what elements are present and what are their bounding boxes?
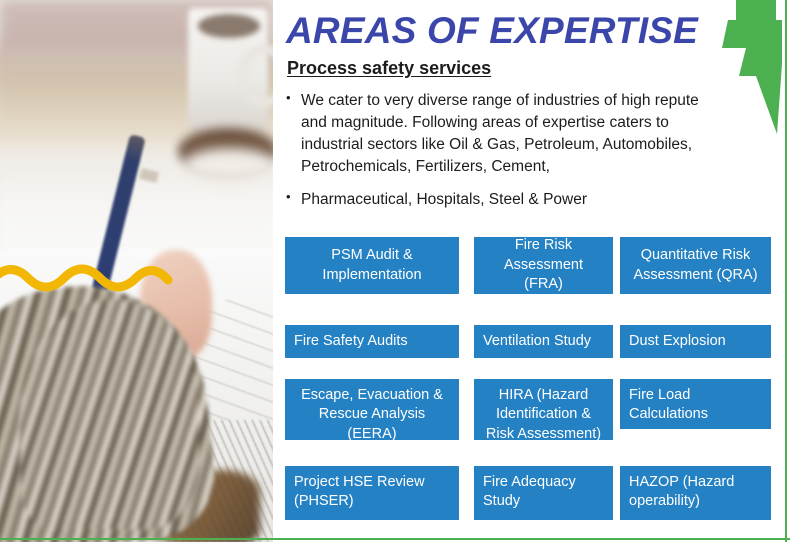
service-box-ventilation-study[interactable]: Ventilation Study <box>474 325 613 358</box>
person-writing-with-pen-photo <box>0 0 273 542</box>
slide-canvas: AREAS OF EXPERTISE Process safety servic… <box>0 0 790 542</box>
bullet-list: We cater to very diverse range of indust… <box>285 90 705 221</box>
bullet-item: We cater to very diverse range of indust… <box>285 90 705 179</box>
wavy-underline-icon <box>0 258 176 298</box>
content-panel: AREAS OF EXPERTISE Process safety servic… <box>273 0 790 542</box>
service-box-dust-explosion[interactable]: Dust Explosion <box>620 325 771 358</box>
service-box-escape-evacuation-rescue-analysis[interactable]: Escape, Evacuation & Rescue Analysis (EE… <box>285 379 459 440</box>
service-box-project-hse-review[interactable]: Project HSE Review (PHSER) <box>285 466 459 520</box>
service-box-fire-safety-audits[interactable]: Fire Safety Audits <box>285 325 459 358</box>
slide-border-right <box>785 0 787 542</box>
section-subtitle: Process safety services <box>287 58 491 79</box>
service-box-fire-load-calculations[interactable]: Fire Load Calculations <box>620 379 771 429</box>
service-box-fire-risk-assessment[interactable]: Fire Risk Assessment (FRA) <box>474 237 613 294</box>
photo-coffee-liquid <box>198 14 260 38</box>
page-title: AREAS OF EXPERTISE <box>286 10 698 52</box>
service-box-hazop[interactable]: HAZOP (Hazard operability) <box>620 466 771 520</box>
slide-border-bottom <box>0 538 790 540</box>
photo-saucer <box>183 148 273 182</box>
photo-knit-sweater-cuff <box>20 300 200 530</box>
service-box-fire-adequacy-study[interactable]: Fire Adequacy Study <box>474 466 613 520</box>
service-box-hira[interactable]: HIRA (Hazard Identification & Risk Asses… <box>474 379 613 440</box>
bullet-item: Pharmaceutical, Hospitals, Steel & Power <box>285 189 705 211</box>
service-box-psm-audit-implementation[interactable]: PSM Audit & Implementation <box>285 237 459 294</box>
service-box-quantitative-risk-assessment[interactable]: Quantitative Risk Assessment (QRA) <box>620 237 771 294</box>
